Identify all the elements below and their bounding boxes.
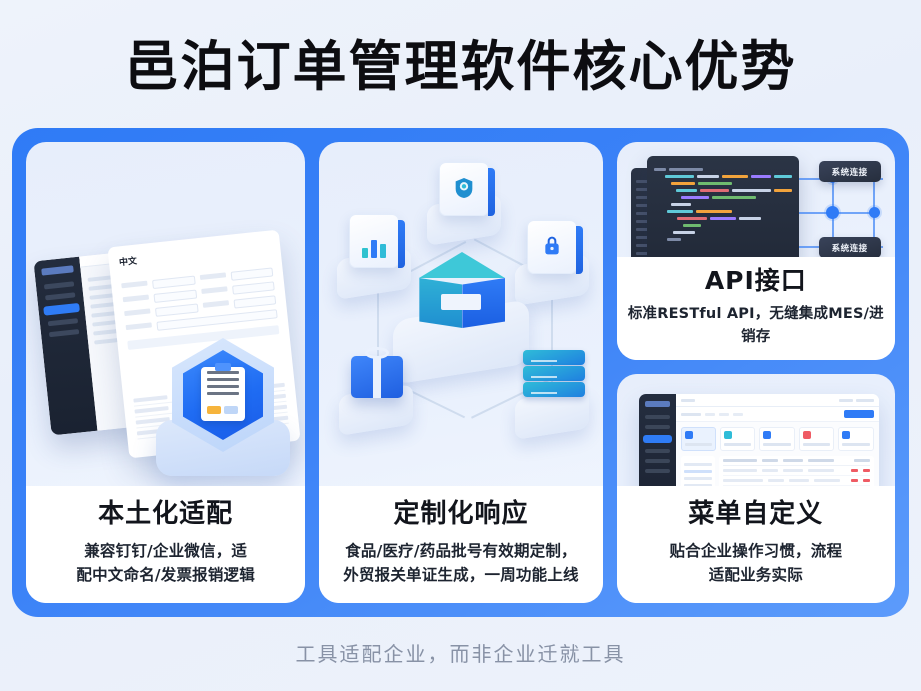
code-line <box>654 175 792 178</box>
code-line <box>654 238 792 241</box>
footer-note: 工具适配企业，而非企业迁就工具 <box>0 632 921 672</box>
node-security <box>427 200 501 240</box>
title-area: 邑泊订单管理软件核心优势 <box>0 24 921 110</box>
form-label <box>124 308 150 316</box>
node-lock <box>515 260 589 300</box>
stat-card[interactable] <box>759 427 794 451</box>
page-title: 邑泊订单管理软件核心优势 <box>125 40 797 94</box>
stat-card-row <box>676 422 879 456</box>
clipboard-clip <box>215 363 231 371</box>
code-editor <box>647 156 799 257</box>
sidebar-nav-item-active <box>643 435 672 443</box>
hexagon-badge <box>172 338 274 452</box>
code-line <box>654 203 792 206</box>
server-stack-icon <box>523 350 585 404</box>
form-input[interactable] <box>230 267 273 280</box>
card-title: 本土化适配 <box>38 500 293 530</box>
chart-bar <box>362 248 368 258</box>
server-unit <box>523 382 585 397</box>
table-row[interactable] <box>723 466 870 476</box>
sidebar-nav-item <box>44 281 74 289</box>
lock-tile <box>527 220 577 274</box>
shield-icon <box>454 177 474 199</box>
dashboard2-main <box>676 394 879 486</box>
form-label <box>199 272 225 280</box>
form-input[interactable] <box>233 295 276 308</box>
gift-band <box>373 356 381 398</box>
gift-bow <box>365 347 389 359</box>
card-caption: 定制化响应 食品/医疗/药品批号有效期定制， 外贸报关单证生成，一周功能上线 <box>319 486 602 603</box>
stat-card[interactable] <box>799 427 834 451</box>
stat-card[interactable] <box>838 427 873 451</box>
gift-icon <box>351 356 403 398</box>
cards-frame: 中文 <box>12 128 909 617</box>
code-line <box>654 182 792 185</box>
primary-action-button[interactable] <box>844 410 874 418</box>
sidebar-nav-item <box>45 292 75 300</box>
sidebar-nav-item-active <box>43 303 80 316</box>
system-connect-box-1: 系统连接 <box>819 161 881 182</box>
form-label <box>126 322 152 330</box>
table-row[interactable] <box>723 476 870 486</box>
form-label <box>202 300 228 308</box>
dashboard-table-mock <box>639 394 879 486</box>
column-right: 系统连接 系统连接 API接口 标准RESTful API，无缝集成MES/进销… <box>617 142 895 603</box>
stat-card[interactable] <box>720 427 755 451</box>
sidebar-logo <box>645 401 670 407</box>
code-line <box>654 224 792 227</box>
form-label <box>123 295 149 303</box>
doc-highlight-chip <box>207 406 221 414</box>
card-api[interactable]: 系统连接 系统连接 API接口 标准RESTful API，无缝集成MES/进销… <box>617 142 895 360</box>
form-label <box>121 281 147 289</box>
code-line <box>654 217 792 220</box>
server-unit <box>523 366 585 381</box>
doc-line <box>207 378 239 381</box>
form-input[interactable] <box>155 303 198 316</box>
lock-icon <box>542 235 562 257</box>
node-server <box>515 394 589 434</box>
stat-card[interactable] <box>681 427 716 451</box>
form-input[interactable] <box>153 290 196 303</box>
isometric-network <box>319 142 602 486</box>
sidebar-nav-item <box>48 318 78 326</box>
card-description: 贴合企业操作习惯，流程 适配业务实际 <box>629 539 883 587</box>
card-localization[interactable]: 中文 <box>26 142 305 603</box>
node-gift <box>339 390 413 430</box>
system-connect-box-2: 系统连接 <box>819 237 881 257</box>
card-menu[interactable]: 菜单自定义 贴合企业操作习惯，流程 适配业务实际 <box>617 374 895 603</box>
card-title: 定制化响应 <box>331 500 590 530</box>
sidebar-nav-item <box>645 469 670 473</box>
code-line <box>654 189 792 192</box>
card-description: 兼容钉钉/企业微信，适 配中文命名/发票报销逻辑 <box>38 539 293 587</box>
customization-illustration <box>319 142 602 486</box>
node-core <box>393 310 529 374</box>
connector-node <box>826 206 839 219</box>
cards-container: 中文 <box>12 128 909 617</box>
card-caption: API接口 标准RESTful API，无缝集成MES/进销存 <box>617 257 895 360</box>
api-diagram: 系统连接 系统连接 <box>617 142 895 257</box>
form-label <box>201 286 227 294</box>
menu-illustration <box>617 374 895 486</box>
card-title: 菜单自定义 <box>629 500 883 530</box>
sidebar-nav-item <box>49 329 79 337</box>
cube-notch <box>441 294 481 310</box>
shield-badge-graphic <box>148 334 298 484</box>
sidebar-nav-item <box>645 459 670 463</box>
doc-line <box>207 385 239 388</box>
data-table <box>719 456 874 486</box>
dashboard2-filterbar <box>676 407 879 422</box>
doc-line <box>207 371 239 374</box>
node-analytics <box>337 254 411 294</box>
dashboard2-content <box>676 456 879 486</box>
doc-line <box>207 392 239 395</box>
cube-top <box>419 252 505 278</box>
chart-bar <box>380 244 386 258</box>
form-input[interactable] <box>152 276 195 289</box>
sidebar-logo <box>41 265 74 275</box>
card-description: 标准RESTful API，无缝集成MES/进销存 <box>625 303 887 348</box>
sidebar-nav-item <box>645 425 670 429</box>
server-unit <box>523 350 585 365</box>
card-caption: 菜单自定义 贴合企业操作习惯，流程 适配业务实际 <box>617 486 895 603</box>
column-middle: 定制化响应 食品/医疗/药品批号有效期定制， 外贸报关单证生成，一周功能上线 <box>319 142 602 603</box>
shield-tile <box>439 162 489 216</box>
code-line <box>654 196 792 199</box>
form-input[interactable] <box>232 281 275 294</box>
code-line <box>654 231 792 234</box>
card-title: API接口 <box>625 267 887 296</box>
poster-root: 邑泊订单管理软件核心优势 <box>0 0 921 691</box>
sidebar-nav-item <box>645 415 670 419</box>
column-left: 中文 <box>26 142 305 603</box>
core-cube-icon <box>419 252 505 344</box>
api-illustration: 系统连接 系统连接 <box>617 142 895 257</box>
card-customization[interactable]: 定制化响应 食品/医疗/药品批号有效期定制， 外贸报关单证生成，一周功能上线 <box>319 142 602 603</box>
code-line <box>654 168 792 171</box>
doc-secondary-chip <box>224 406 238 414</box>
category-tree[interactable] <box>681 456 715 486</box>
sidebar-nav-item <box>645 449 670 453</box>
chart-tile <box>349 214 399 268</box>
table-header-row <box>723 459 870 466</box>
card-description: 食品/医疗/药品批号有效期定制， 外贸报关单证生成，一周功能上线 <box>331 539 590 587</box>
localization-illustration: 中文 <box>26 142 305 486</box>
clipboard-icon <box>201 367 245 421</box>
code-line <box>654 210 792 213</box>
dashboard2-topbar <box>676 394 879 407</box>
chart-bar <box>371 240 377 258</box>
card-caption: 本土化适配 兼容钉钉/企业微信，适 配中文命名/发票报销逻辑 <box>26 486 305 603</box>
connector-node <box>869 207 880 218</box>
dashboard2-sidebar <box>639 394 676 486</box>
